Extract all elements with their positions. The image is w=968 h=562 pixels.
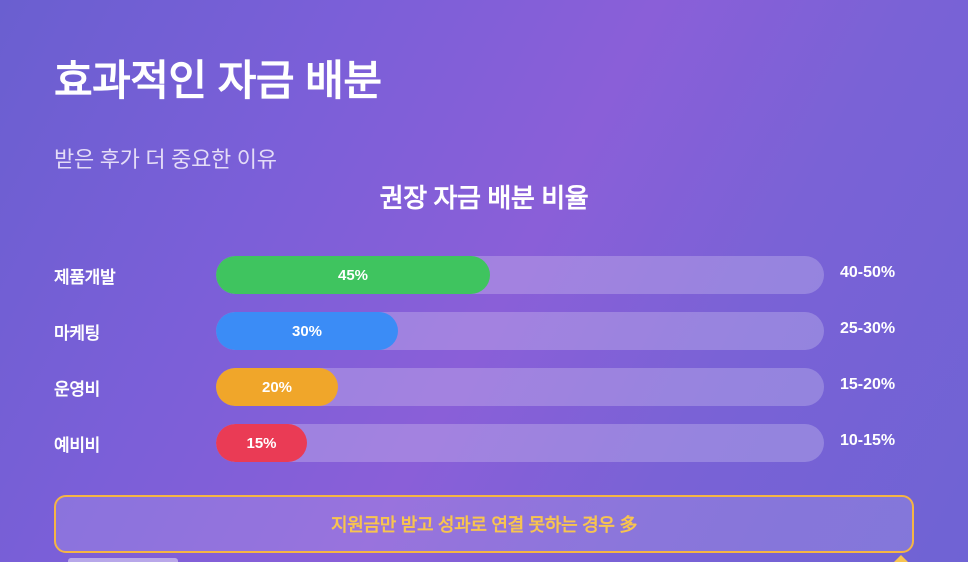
page-subtitle: 받은 후가 더 중요한 이유 (54, 142, 277, 174)
bar-row: 예비비 15% 10-15% (0, 418, 968, 474)
bottom-strip (0, 558, 968, 562)
chart-title: 권장 자금 배분 비율 (0, 178, 968, 215)
bar-track: 30% (216, 312, 824, 350)
warning-callout: 지원금만 받고 성과로 연결 못하는 경우 多 (54, 495, 914, 553)
warning-callout-text: 지원금만 받고 성과로 연결 못하는 경우 多 (331, 511, 637, 537)
bar-range-label: 25-30% (840, 320, 895, 338)
bar-row: 제품개발 45% 40-50% (0, 250, 968, 306)
bar-track: 15% (216, 424, 824, 462)
progress-pill (68, 558, 178, 562)
bar-fill: 45% (216, 256, 490, 294)
bar-track: 45% (216, 256, 824, 294)
bar-category-label: 예비비 (54, 431, 204, 456)
allocation-bar-chart: 제품개발 45% 40-50% 마케팅 30% 25-30% 운영비 20% (0, 250, 968, 474)
bar-range-label: 10-15% (840, 432, 895, 450)
bar-row: 마케팅 30% 25-30% (0, 306, 968, 362)
bar-fill: 20% (216, 368, 338, 406)
bar-category-label: 운영비 (54, 375, 204, 400)
chevron-up-icon[interactable] (894, 555, 908, 562)
bar-value-label: 15% (246, 435, 276, 452)
bar-value-label: 30% (292, 323, 322, 340)
page-title: 효과적인 자금 배분 (54, 58, 381, 104)
bar-fill: 30% (216, 312, 398, 350)
bar-row: 운영비 20% 15-20% (0, 362, 968, 418)
bar-value-label: 20% (262, 379, 292, 396)
bar-category-label: 제품개발 (54, 263, 204, 288)
slide-root: 효과적인 자금 배분 받은 후가 더 중요한 이유 권장 자금 배분 비율 제품… (0, 0, 968, 562)
bar-fill: 15% (216, 424, 307, 462)
bar-track: 20% (216, 368, 824, 406)
bar-value-label: 45% (338, 267, 368, 284)
bar-range-label: 40-50% (840, 264, 895, 282)
bar-range-label: 15-20% (840, 376, 895, 394)
bar-category-label: 마케팅 (54, 319, 204, 344)
